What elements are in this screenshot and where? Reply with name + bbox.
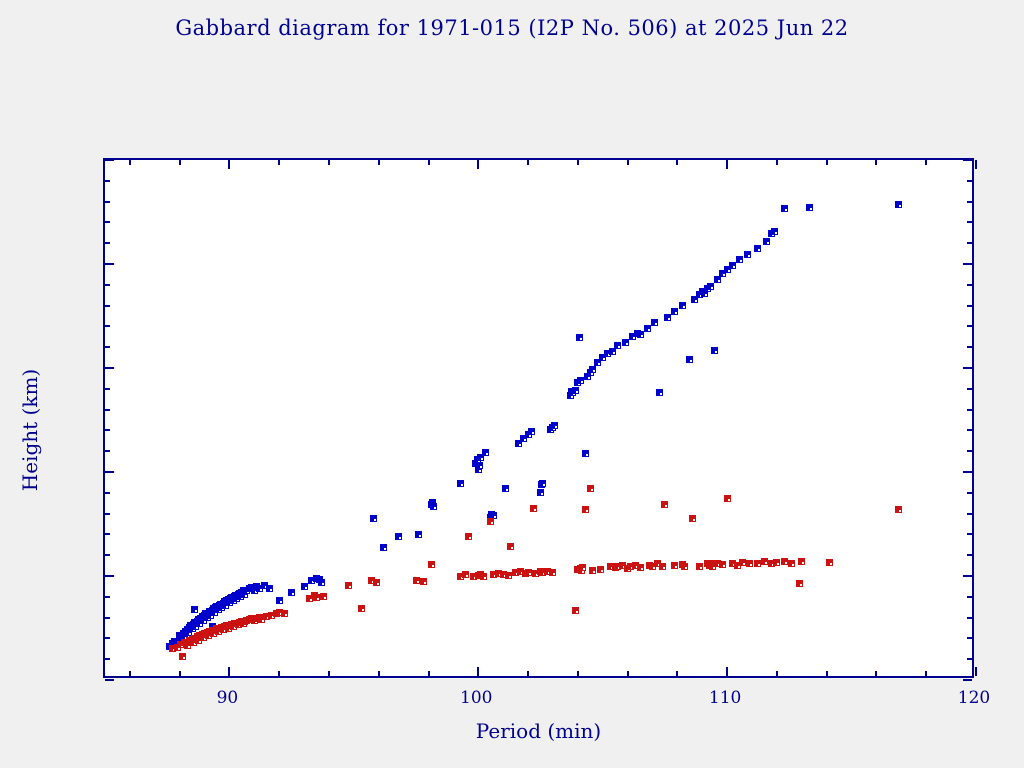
data-point bbox=[826, 559, 833, 566]
y-axis-tick bbox=[105, 388, 110, 390]
data-point bbox=[746, 560, 753, 567]
data-point bbox=[614, 342, 621, 349]
data-point bbox=[597, 566, 604, 573]
x-axis-tick bbox=[328, 160, 330, 165]
y-axis-tick bbox=[967, 513, 972, 515]
y-axis-tick bbox=[963, 471, 972, 473]
data-point bbox=[465, 533, 472, 540]
y-axis-tick bbox=[967, 388, 972, 390]
y-axis-tick bbox=[967, 284, 972, 286]
data-point bbox=[502, 485, 509, 492]
data-point bbox=[191, 606, 198, 613]
data-point bbox=[380, 544, 387, 551]
data-point bbox=[530, 505, 537, 512]
x-axis-tick bbox=[776, 671, 778, 676]
y-axis-tick bbox=[967, 242, 972, 244]
x-axis-tick bbox=[428, 160, 430, 165]
data-point bbox=[413, 577, 420, 584]
gabbard-diagram-figure: Gabbard diagram for 1971-015 (I2P No. 50… bbox=[0, 0, 1024, 768]
data-point bbox=[179, 653, 186, 660]
data-point bbox=[539, 480, 546, 487]
y-axis-tick bbox=[105, 180, 110, 182]
data-point bbox=[679, 302, 686, 309]
x-axis-tick bbox=[577, 160, 579, 165]
data-point bbox=[788, 560, 795, 567]
data-point bbox=[707, 283, 714, 290]
x-axis-tick bbox=[228, 667, 230, 676]
data-point bbox=[345, 582, 352, 589]
data-point bbox=[686, 356, 693, 363]
x-axis-tick bbox=[527, 671, 529, 676]
data-point bbox=[729, 262, 736, 269]
x-axis-tick bbox=[477, 160, 479, 169]
data-point bbox=[537, 489, 544, 496]
data-point bbox=[462, 571, 469, 578]
data-point bbox=[681, 563, 688, 570]
y-axis-tick bbox=[105, 679, 114, 681]
x-axis-tick bbox=[527, 160, 529, 165]
y-axis-tick bbox=[967, 180, 972, 182]
y-axis-tick bbox=[963, 367, 972, 369]
data-point bbox=[320, 593, 327, 600]
y-axis-tick bbox=[105, 617, 110, 619]
data-point bbox=[266, 585, 273, 592]
x-axis-tick bbox=[975, 667, 977, 676]
data-point bbox=[487, 518, 494, 525]
x-axis-tick bbox=[129, 160, 131, 165]
data-point bbox=[428, 561, 435, 568]
data-point bbox=[582, 450, 589, 457]
x-axis-tick bbox=[925, 671, 927, 676]
data-point bbox=[661, 501, 668, 508]
data-point bbox=[358, 605, 365, 612]
x-axis-tick bbox=[676, 671, 678, 676]
data-point bbox=[895, 506, 902, 513]
x-axis-tick bbox=[676, 160, 678, 165]
data-point bbox=[771, 228, 778, 235]
x-axis-tick bbox=[228, 160, 230, 169]
x-axis-tick bbox=[328, 671, 330, 676]
x-axis-tick bbox=[975, 160, 977, 169]
data-point bbox=[664, 314, 671, 321]
x-axis-tick bbox=[278, 671, 280, 676]
y-axis-tick bbox=[105, 429, 110, 431]
data-point bbox=[395, 533, 402, 540]
y-axis-tick bbox=[105, 450, 110, 452]
data-point bbox=[370, 515, 377, 522]
x-axis-tick bbox=[179, 160, 181, 165]
y-axis-tick bbox=[963, 575, 972, 577]
data-point bbox=[781, 558, 788, 565]
data-point bbox=[420, 578, 427, 585]
data-point bbox=[754, 560, 761, 567]
y-axis-tick bbox=[967, 221, 972, 223]
data-point bbox=[781, 205, 788, 212]
y-axis-tick bbox=[105, 409, 110, 411]
data-point bbox=[549, 569, 556, 576]
x-axis-tick bbox=[726, 667, 728, 676]
y-axis-tick bbox=[967, 325, 972, 327]
data-point bbox=[761, 558, 768, 565]
data-point bbox=[651, 319, 658, 326]
y-axis-tick bbox=[967, 617, 972, 619]
data-point bbox=[288, 589, 295, 596]
x-axis-tick bbox=[826, 671, 828, 676]
data-point bbox=[739, 559, 746, 566]
data-point bbox=[714, 276, 721, 283]
data-point bbox=[744, 251, 751, 258]
data-point bbox=[622, 339, 629, 346]
data-point bbox=[806, 204, 813, 211]
x-axis-tick bbox=[826, 160, 828, 165]
data-point bbox=[671, 562, 678, 569]
data-point bbox=[430, 503, 437, 510]
data-point bbox=[671, 308, 678, 315]
data-point bbox=[637, 564, 644, 571]
x-axis-tick-label: 90 bbox=[217, 690, 239, 707]
data-point bbox=[895, 201, 902, 208]
y-axis-tick bbox=[105, 492, 110, 494]
data-point bbox=[373, 579, 380, 586]
y-axis-tick bbox=[963, 159, 972, 161]
data-point bbox=[659, 563, 666, 570]
data-point bbox=[576, 334, 583, 341]
data-point bbox=[773, 559, 780, 566]
x-axis-title: Period (min) bbox=[103, 719, 974, 743]
data-point bbox=[689, 515, 696, 522]
y-axis-tick bbox=[967, 658, 972, 660]
x-axis-tick bbox=[129, 671, 131, 676]
plot-area bbox=[103, 158, 974, 678]
data-point bbox=[318, 579, 325, 586]
y-axis-tick bbox=[105, 325, 110, 327]
data-point bbox=[656, 389, 663, 396]
y-axis-tick bbox=[967, 201, 972, 203]
y-axis-tick bbox=[105, 658, 110, 660]
y-axis-tick bbox=[967, 409, 972, 411]
y-axis-tick bbox=[105, 471, 114, 473]
x-axis-tick bbox=[278, 160, 280, 165]
x-axis-tick bbox=[577, 671, 579, 676]
data-point bbox=[276, 597, 283, 604]
y-axis-tick bbox=[105, 596, 110, 598]
y-axis-tick bbox=[963, 679, 972, 681]
x-axis-tick-label: 100 bbox=[460, 690, 492, 707]
data-point bbox=[724, 495, 731, 502]
data-point bbox=[525, 569, 532, 576]
x-axis-tick bbox=[477, 667, 479, 676]
data-point bbox=[579, 564, 586, 571]
data-point bbox=[572, 387, 579, 394]
y-axis-tick bbox=[105, 221, 110, 223]
x-axis-tick bbox=[627, 160, 629, 165]
x-axis-tick bbox=[726, 160, 728, 169]
data-point bbox=[609, 348, 616, 355]
data-point bbox=[301, 583, 308, 590]
x-axis-tick bbox=[179, 671, 181, 676]
data-point bbox=[711, 347, 718, 354]
y-axis-tick bbox=[105, 533, 110, 535]
data-point bbox=[736, 256, 743, 263]
y-axis-tick bbox=[105, 159, 114, 161]
y-axis-tick bbox=[105, 346, 110, 348]
y-axis-tick bbox=[105, 201, 110, 203]
data-point bbox=[582, 506, 589, 513]
y-axis-tick bbox=[967, 533, 972, 535]
y-axis-title: Height (km) bbox=[18, 330, 42, 530]
data-point bbox=[480, 573, 487, 580]
y-axis-tick bbox=[967, 305, 972, 307]
data-point bbox=[589, 366, 596, 373]
y-axis-tick bbox=[105, 637, 110, 639]
y-axis-tick bbox=[105, 284, 110, 286]
data-point bbox=[572, 607, 579, 614]
data-point bbox=[719, 561, 726, 568]
data-point bbox=[457, 480, 464, 487]
data-point bbox=[637, 331, 644, 338]
x-axis-tick-label: 120 bbox=[958, 690, 990, 707]
page-title: Gabbard diagram for 1971-015 (I2P No. 50… bbox=[0, 16, 1024, 40]
y-axis-tick bbox=[105, 554, 110, 556]
y-axis-tick bbox=[967, 429, 972, 431]
y-axis-tick bbox=[105, 513, 110, 515]
data-point bbox=[476, 462, 483, 469]
y-axis-tick bbox=[967, 346, 972, 348]
x-axis-tick bbox=[875, 671, 877, 676]
y-axis-tick bbox=[963, 263, 972, 265]
y-axis-tick bbox=[105, 305, 110, 307]
data-point bbox=[696, 563, 703, 570]
data-point bbox=[796, 580, 803, 587]
x-axis-tick-label: 110 bbox=[709, 690, 741, 707]
data-point bbox=[763, 238, 770, 245]
y-axis-tick bbox=[967, 596, 972, 598]
x-axis-tick bbox=[378, 671, 380, 676]
y-axis-tick bbox=[105, 263, 114, 265]
data-point bbox=[415, 531, 422, 538]
x-axis-tick bbox=[428, 671, 430, 676]
data-point bbox=[754, 245, 761, 252]
y-axis-tick bbox=[105, 367, 114, 369]
data-point bbox=[281, 610, 288, 617]
data-point bbox=[507, 543, 514, 550]
data-point bbox=[798, 558, 805, 565]
x-axis-tick bbox=[776, 160, 778, 165]
y-axis-tick bbox=[967, 492, 972, 494]
data-point bbox=[644, 325, 651, 332]
y-axis-tick bbox=[967, 554, 972, 556]
y-axis-tick bbox=[967, 450, 972, 452]
data-point bbox=[587, 485, 594, 492]
data-point bbox=[313, 594, 320, 601]
data-point bbox=[577, 377, 584, 384]
data-point bbox=[551, 422, 558, 429]
data-point bbox=[528, 428, 535, 435]
x-axis-tick bbox=[875, 160, 877, 165]
x-axis-tick bbox=[925, 160, 927, 165]
x-axis-tick bbox=[378, 160, 380, 165]
y-axis-tick bbox=[105, 575, 114, 577]
y-axis-tick bbox=[967, 637, 972, 639]
y-axis-tick bbox=[105, 242, 110, 244]
scatter-data-layer bbox=[105, 160, 972, 676]
data-point bbox=[482, 449, 489, 456]
data-point bbox=[589, 567, 596, 574]
data-point bbox=[505, 572, 512, 579]
x-axis-tick bbox=[627, 671, 629, 676]
